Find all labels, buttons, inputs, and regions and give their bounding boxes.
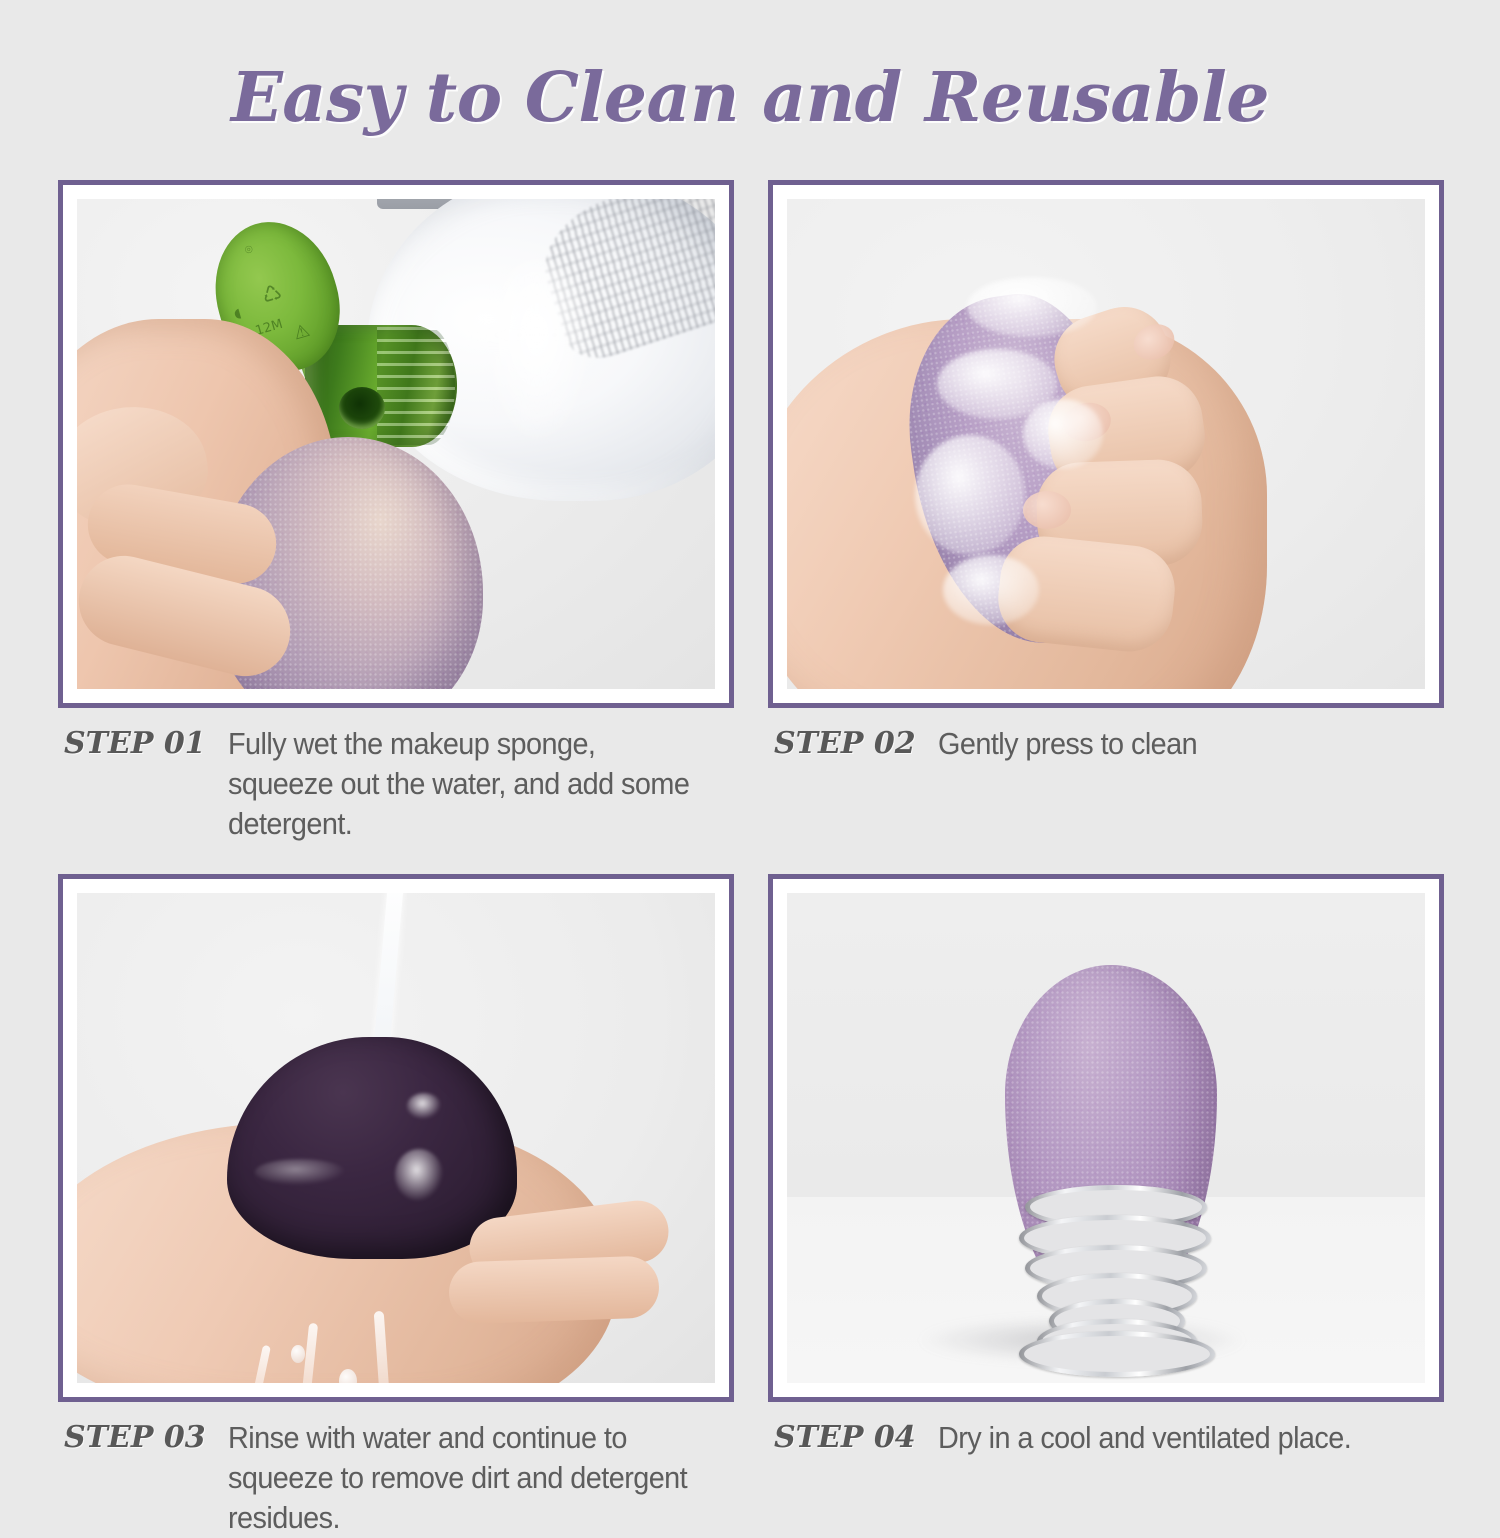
step-photo-frame-04	[768, 874, 1444, 1402]
soap-foam	[1023, 399, 1103, 469]
spiral-coil-base	[1019, 1331, 1215, 1377]
cap-ridges	[377, 327, 455, 445]
step-label: STEP 02	[774, 724, 916, 764]
fingers-lower	[448, 1255, 660, 1324]
step-cell-04: STEP 04 Dry in a cool and ventilated pla…	[768, 874, 1444, 1538]
steps-grid: ⌾ ♺ ◖ 12M ⚠	[58, 180, 1444, 1538]
infographic-page: Easy to Clean and Reusable	[0, 0, 1500, 1500]
cap-nozzle-hole	[339, 387, 385, 429]
soap-foam	[943, 555, 1039, 625]
step-description: Dry in a cool and ventilated place.	[938, 1418, 1351, 1458]
step-description: Gently press to clean	[938, 724, 1197, 764]
step-description: Fully wet the makeup sponge, squeeze out…	[228, 724, 699, 844]
step-description: Rinse with water and continue to squeeze…	[228, 1418, 699, 1538]
soap-foam	[967, 277, 1097, 337]
water-highlight	[255, 1159, 345, 1185]
step-caption-04: STEP 04 Dry in a cool and ventilated pla…	[768, 1418, 1444, 1458]
water-highlight	[395, 1149, 443, 1201]
step-photo-frame-01: ⌾ ♺ ◖ 12M ⚠	[58, 180, 734, 708]
step-label: STEP 03	[64, 1418, 206, 1458]
step-caption-02: STEP 02 Gently press to clean	[768, 724, 1444, 764]
photo-squeezing-sponge	[787, 199, 1425, 689]
photo-wet-sponge-with-detergent: ⌾ ♺ ◖ 12M ⚠	[77, 199, 715, 689]
step-caption-01: STEP 01 Fully wet the makeup sponge, squ…	[58, 724, 734, 844]
photo-sponge-on-drying-stand	[787, 893, 1425, 1383]
water-droplet	[291, 1345, 305, 1363]
step-label: STEP 01	[64, 724, 206, 764]
water-highlight	[407, 1093, 441, 1119]
step-photo-frame-02	[768, 180, 1444, 708]
step-cell-01: ⌾ ♺ ◖ 12M ⚠	[58, 180, 734, 844]
fingernail	[1023, 491, 1071, 529]
page-title: Easy to Clean and Reusable	[0, 58, 1500, 138]
warning-triangle-icon: ⚠	[291, 320, 312, 345]
steps-row-top: ⌾ ♺ ◖ 12M ⚠	[58, 180, 1444, 844]
recycle-arrows-icon: ♺	[259, 280, 285, 309]
step-photo-frame-03	[58, 874, 734, 1402]
soap-foam	[915, 435, 1025, 555]
photo-rinsing-sponge	[77, 893, 715, 1383]
period-after-opening-icon: ◖	[232, 306, 243, 322]
steps-row-bottom: STEP 03 Rinse with water and continue to…	[58, 874, 1444, 1538]
step-cell-03: STEP 03 Rinse with water and continue to…	[58, 874, 734, 1538]
step-caption-03: STEP 03 Rinse with water and continue to…	[58, 1418, 734, 1538]
recycle-code-icon: ⌾	[243, 242, 255, 259]
step-label: STEP 04	[774, 1418, 916, 1458]
step-cell-02: STEP 02 Gently press to clean	[768, 180, 1444, 844]
bottle-highlight	[477, 259, 597, 449]
